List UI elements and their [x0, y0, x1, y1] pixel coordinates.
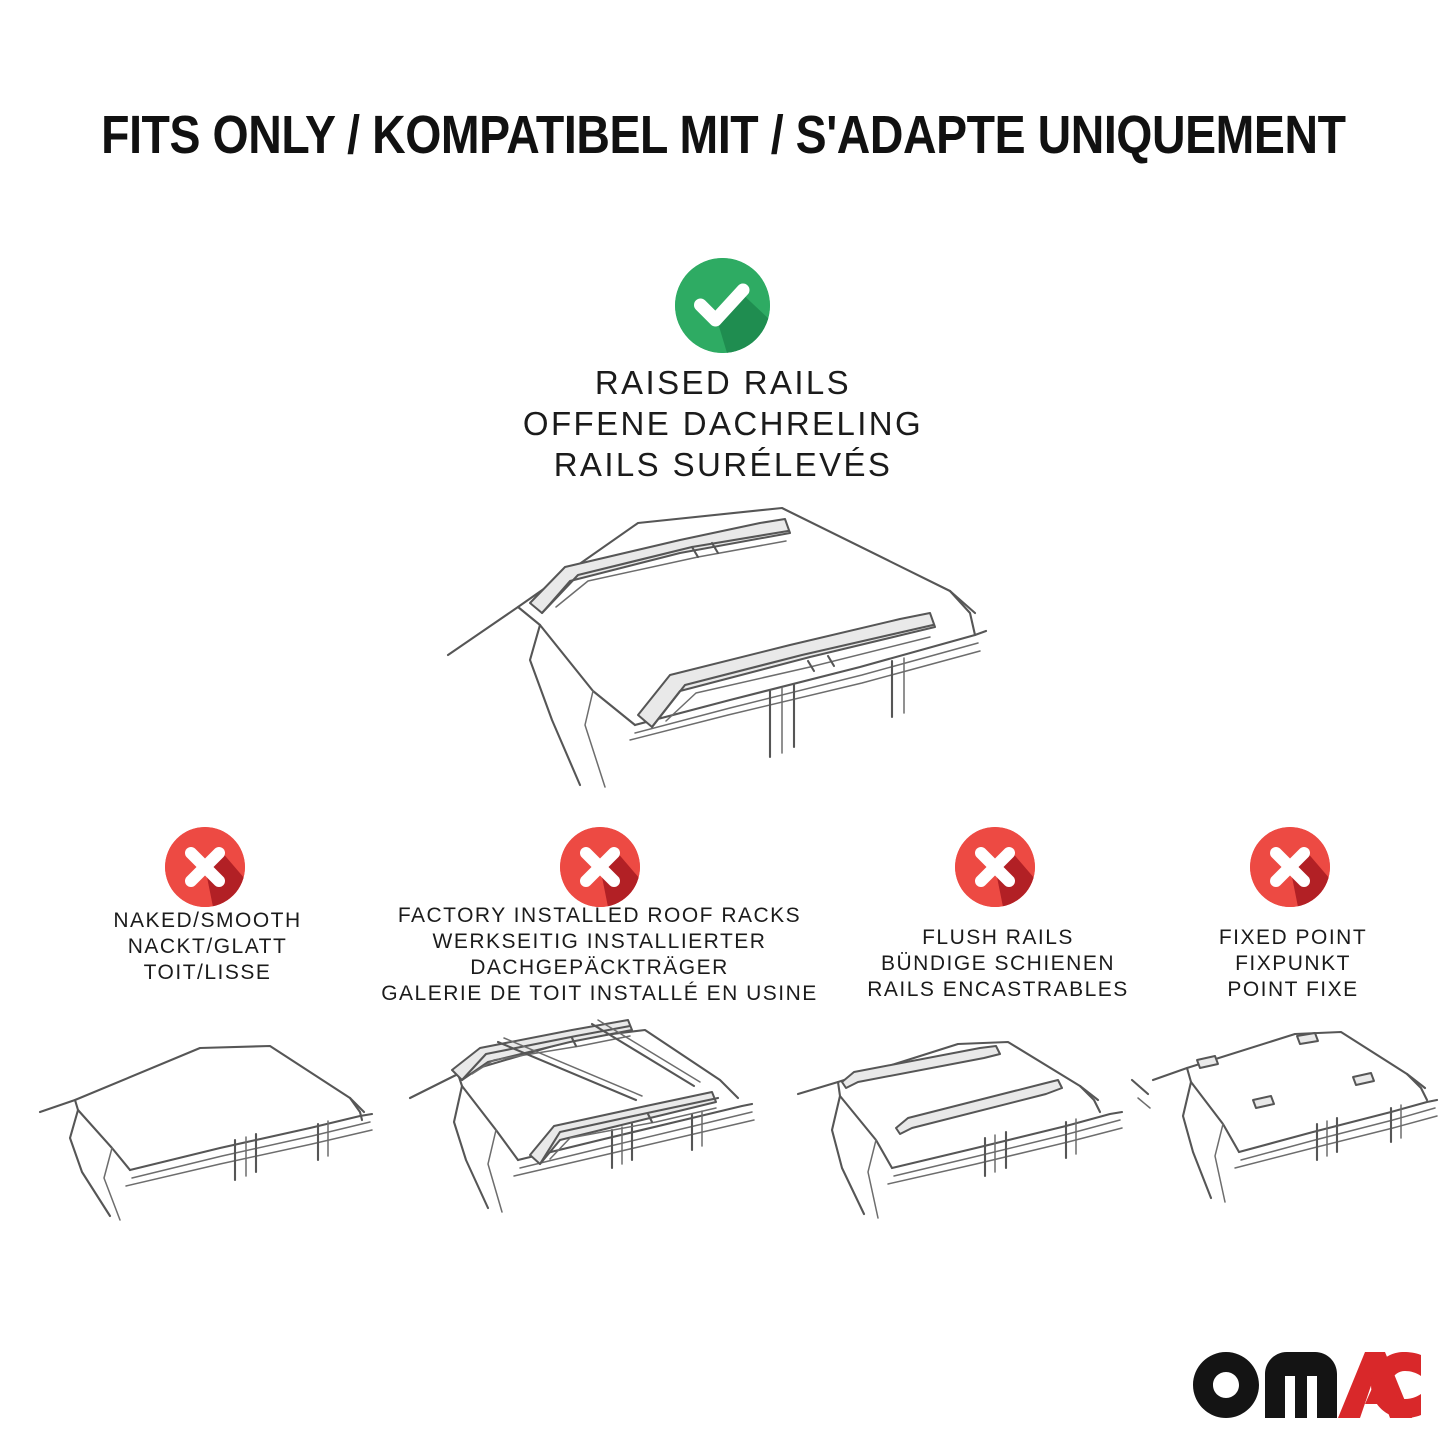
car-roof-factory-roof-racks-illustration [400, 1010, 775, 1255]
car-roof-naked-smooth-illustration [20, 1020, 385, 1255]
x-circle-glyph [165, 827, 245, 907]
incompatible-label-fixed-point: FIXED POINT FIXPUNKT POINT FIXE [1168, 925, 1418, 1003]
x-circle-icon [560, 827, 640, 907]
x-circle-glyph [955, 827, 1035, 907]
x-circle-icon [955, 827, 1035, 907]
x-circle-glyph [560, 827, 640, 907]
car-roof-flush-rails-illustration [780, 1020, 1155, 1255]
x-circle-icon [165, 827, 245, 907]
omac-logo-glyph [1193, 1352, 1421, 1418]
x-circle-glyph [1250, 827, 1330, 907]
incompatible-label-naked-smooth: NAKED/SMOOTH NACKT/GLATT TOIT/LISSE [35, 908, 380, 986]
incompatible-label-flush-rails: FLUSH RAILS BÜNDIGE SCHIENEN RAILS ENCAS… [828, 925, 1168, 1003]
x-circle-icon [1250, 827, 1330, 907]
check-circle-glyph [675, 258, 770, 353]
fitment-infographic: FITS ONLY / KOMPATIBEL MIT / S'ADAPTE UN… [0, 0, 1445, 1445]
check-circle-icon [675, 258, 770, 353]
car-roof-raised-rails-illustration [430, 495, 1000, 795]
omac-logo [1193, 1352, 1421, 1418]
incompatible-label-factory-roof-racks: FACTORY INSTALLED ROOF RACKS WERKSEITIG … [372, 903, 827, 1007]
car-roof-fixed-point-illustration [1145, 1020, 1445, 1255]
compatible-label: RAISED RAILS OFFENE DACHRELING RAILS SUR… [423, 362, 1023, 485]
page-title: FITS ONLY / KOMPATIBEL MIT / S'ADAPTE UN… [101, 104, 1344, 166]
